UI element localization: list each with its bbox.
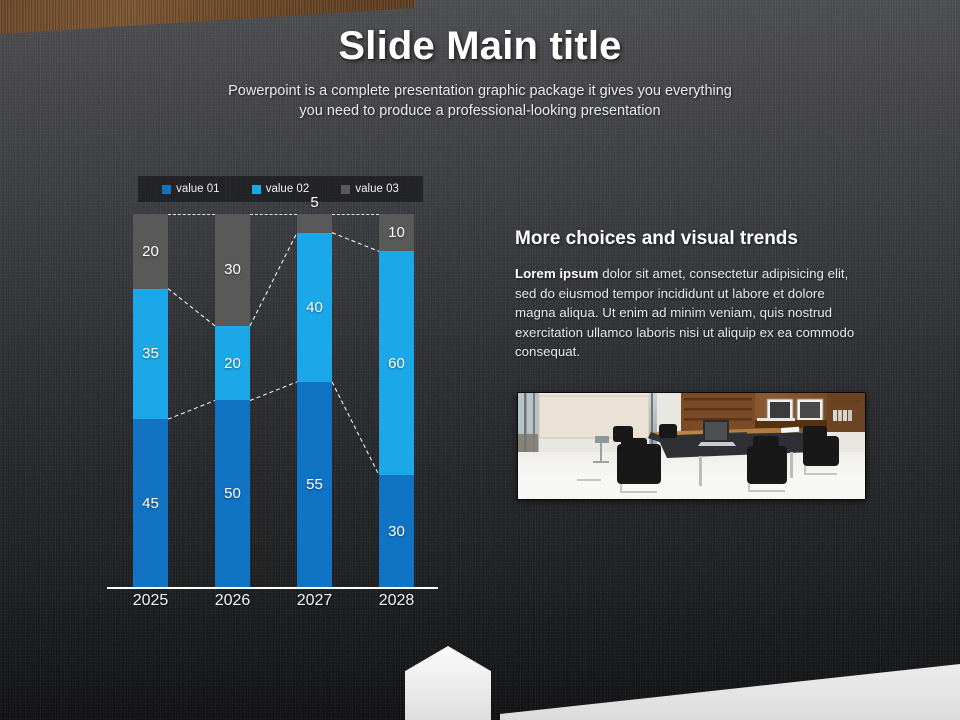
bar-value-label: 5 [310, 195, 318, 210]
chart-x-axis-line [107, 587, 438, 589]
conference-room-photo [517, 392, 866, 500]
stacked-bar-chart: value 01value 02value 03 203545302050540… [100, 172, 450, 617]
legend-swatch-3 [341, 185, 350, 194]
slide-header: Slide Main title Powerpoint is a complet… [0, 24, 960, 121]
chart-connector-lines [100, 214, 450, 587]
chart-x-axis-labels: 2025202620272028 [100, 592, 450, 618]
x-axis-label-2026: 2026 [198, 592, 268, 610]
page-subtitle: Powerpoint is a complete presentation gr… [220, 81, 740, 121]
conference-room-illustration [517, 392, 866, 500]
legend-item-2[interactable]: value 02 [252, 183, 309, 195]
chart-legend: value 01value 02value 03 [138, 176, 423, 202]
legend-label-3: value 03 [355, 183, 398, 195]
bottom-arrow-shape [405, 646, 491, 720]
right-panel-body-bold: Lorem ipsum [515, 266, 599, 281]
connector-line [250, 233, 297, 326]
page-title: Slide Main title [0, 24, 960, 69]
legend-item-3[interactable]: value 03 [341, 183, 398, 195]
right-text-panel: More choices and visual trends Lorem ips… [515, 228, 865, 362]
legend-swatch-2 [252, 185, 261, 194]
connector-line [332, 382, 379, 475]
x-axis-label-2025: 2025 [116, 592, 186, 610]
connector-line [168, 289, 215, 326]
legend-label-2: value 02 [266, 183, 309, 195]
right-panel-heading: More choices and visual trends [515, 228, 865, 250]
right-panel-body: Lorem ipsum dolor sit amet, consectetur … [515, 264, 865, 362]
legend-swatch-1 [162, 185, 171, 194]
slide-canvas: Slide Main title Powerpoint is a complet… [0, 0, 960, 720]
connector-line [250, 382, 297, 401]
connector-line [168, 401, 215, 420]
connector-line [332, 233, 379, 252]
legend-label-1: value 01 [176, 183, 219, 195]
x-axis-label-2028: 2028 [362, 592, 432, 610]
x-axis-label-2027: 2027 [280, 592, 350, 610]
legend-item-1[interactable]: value 01 [162, 183, 219, 195]
